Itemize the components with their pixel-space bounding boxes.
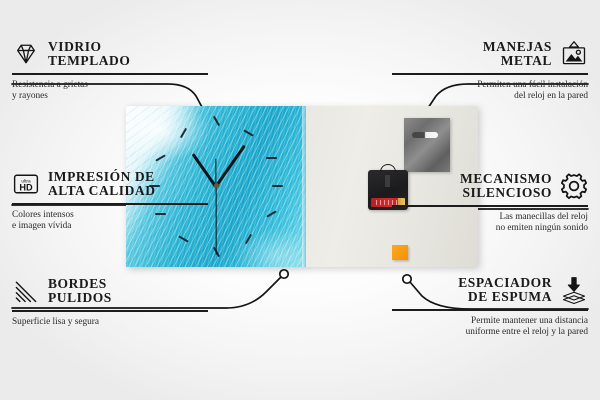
feature-heading: MANEJAS METAL [392, 40, 588, 68]
feature-heading: ESPACIADOR DE ESPUMA [392, 276, 588, 304]
feature-espaciador-espuma: ESPACIADOR DE ESPUMA Permite mantener un… [392, 276, 588, 339]
hour-tick [272, 185, 283, 187]
hour-tick [180, 128, 187, 139]
mechanism-shaft [385, 175, 390, 187]
feature-divider [12, 73, 208, 75]
svg-text:HD: HD [19, 182, 33, 192]
clock-hand-second [215, 187, 216, 255]
diamond-icon [12, 40, 40, 68]
arrow-on-stack-icon [560, 276, 588, 304]
polished-edge-icon [12, 277, 40, 305]
clock-center-hub [214, 183, 219, 188]
feature-divider [392, 309, 588, 311]
feature-bordes-pulidos: BORDES PULIDOS Superficie lisa y segura [12, 277, 208, 328]
feature-title: BORDES PULIDOS [48, 277, 112, 305]
metal-hanger-plate [404, 118, 450, 172]
feature-description: Superficie lisa y segura [12, 317, 208, 329]
connector-dot-bordes [280, 270, 288, 278]
feature-title: MANEJAS METAL [483, 40, 552, 68]
hour-tick [212, 116, 219, 127]
glass-edge-highlight [302, 106, 306, 267]
ultra-hd-icon: ultra HD [12, 170, 40, 198]
feature-divider [12, 310, 208, 312]
feature-description: Las manecillas del reloj no emiten ningú… [392, 212, 588, 235]
feature-heading: BORDES PULIDOS [12, 277, 208, 305]
feature-divider [392, 205, 588, 207]
hour-tick [149, 185, 160, 187]
feature-impresion-alta-calidad: ultra HD IMPRESIÓN DE ALTA CALIDAD Color… [12, 170, 208, 233]
feature-title: ESPACIADOR DE ESPUMA [458, 276, 552, 304]
mechanism-hang-loop [380, 164, 396, 172]
hour-tick [155, 154, 166, 161]
gear-icon [560, 172, 588, 200]
feature-heading: MECANISMO SILENCIOSO [392, 172, 588, 200]
foam-spacer [392, 245, 408, 260]
clock-front-face [126, 106, 306, 267]
hanger-slot [412, 132, 438, 138]
hour-tick [178, 235, 189, 242]
feature-divider [392, 73, 588, 75]
feature-mecanismo-silencioso: MECANISMO SILENCIOSO Las manecillas del … [392, 172, 588, 235]
feature-vidrio-templado: VIDRIO TEMPLADO Resistencia a grietas y … [12, 40, 208, 103]
clock-hand-minute [215, 145, 246, 188]
hour-tick [155, 213, 166, 215]
feature-heading: ultra HD IMPRESIÓN DE ALTA CALIDAD [12, 170, 208, 198]
feature-title: VIDRIO TEMPLADO [48, 40, 130, 68]
hour-tick [243, 129, 254, 136]
hanging-frame-icon [560, 40, 588, 68]
feature-heading: VIDRIO TEMPLADO [12, 40, 208, 68]
feature-manejas-metal: MANEJAS METAL Permiten una fácil instala… [392, 40, 588, 103]
feature-description: Permite mantener una distancia uniforme … [392, 316, 588, 339]
infographic-canvas: VIDRIO TEMPLADO Resistencia a grietas y … [0, 0, 600, 400]
feature-description: Permiten una fácil instalación del reloj… [392, 80, 588, 103]
feature-description: Colores intensos e imagen vívida [12, 210, 208, 233]
hour-tick [266, 157, 277, 159]
feature-description: Resistencia a grietas y rayones [12, 80, 208, 103]
hour-tick [266, 210, 277, 217]
feature-title: IMPRESIÓN DE ALTA CALIDAD [48, 170, 156, 198]
hour-tick [245, 234, 252, 245]
feature-divider [12, 203, 208, 205]
feature-title: MECANISMO SILENCIOSO [460, 172, 552, 200]
